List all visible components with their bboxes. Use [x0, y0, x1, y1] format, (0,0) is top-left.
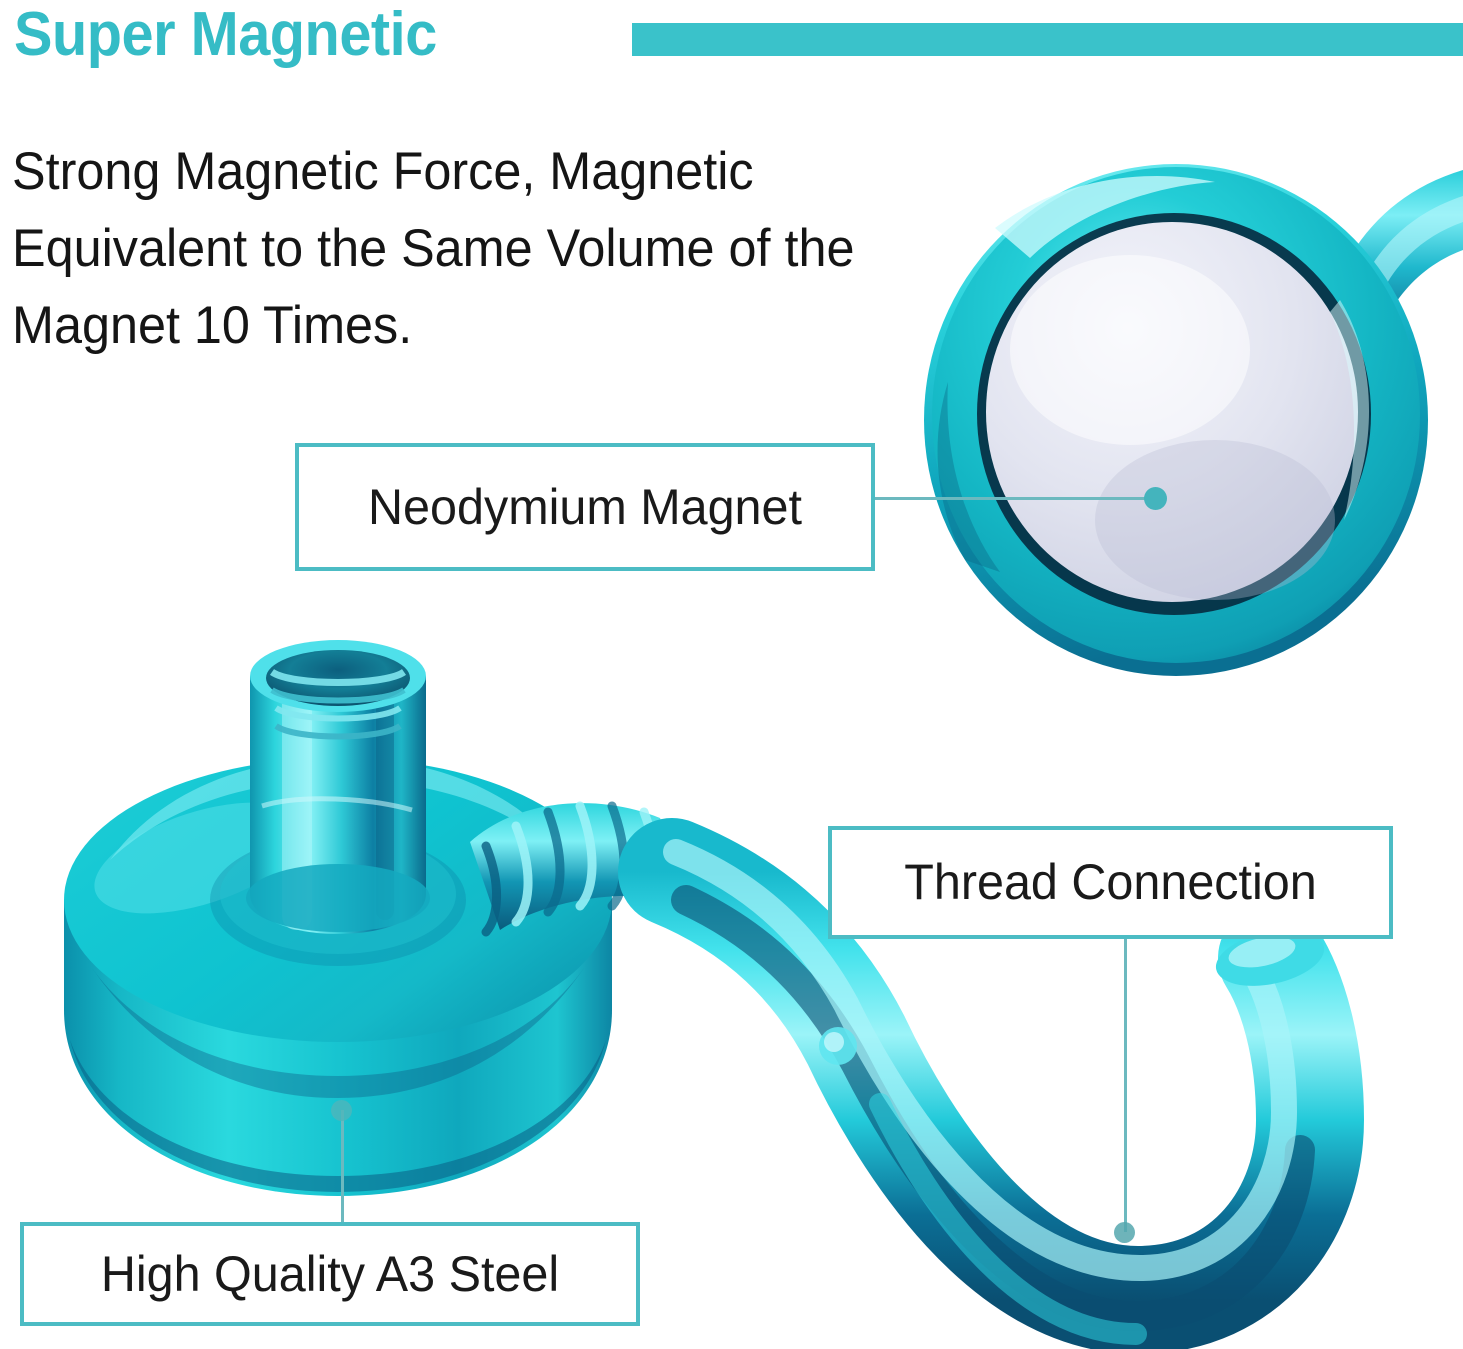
callout-label-steel: High Quality A3 Steel	[33, 1248, 627, 1301]
leader-line-neodymium	[875, 497, 1159, 500]
leader-dot-steel	[331, 1100, 352, 1121]
callout-high-quality-a3-steel: High Quality A3 Steel	[20, 1222, 640, 1326]
leader-dot-neodymium	[1144, 487, 1167, 510]
leader-dot-thread	[1114, 1222, 1135, 1243]
callout-neodymium-magnet: Neodymium Magnet	[295, 443, 875, 571]
callout-label-thread: Thread Connection	[840, 856, 1380, 909]
leader-line-thread	[1124, 938, 1127, 1232]
neodymium-magnet-disc	[924, 164, 1428, 676]
callout-label-neodymium: Neodymium Magnet	[308, 481, 863, 534]
leader-line-steel	[341, 1110, 344, 1224]
product-illustration	[0, 0, 1463, 1349]
callout-thread-connection: Thread Connection	[828, 826, 1393, 939]
threaded-post	[246, 640, 430, 934]
infographic-page: Super Magnetic Strong Magnetic Force, Ma…	[0, 0, 1463, 1349]
